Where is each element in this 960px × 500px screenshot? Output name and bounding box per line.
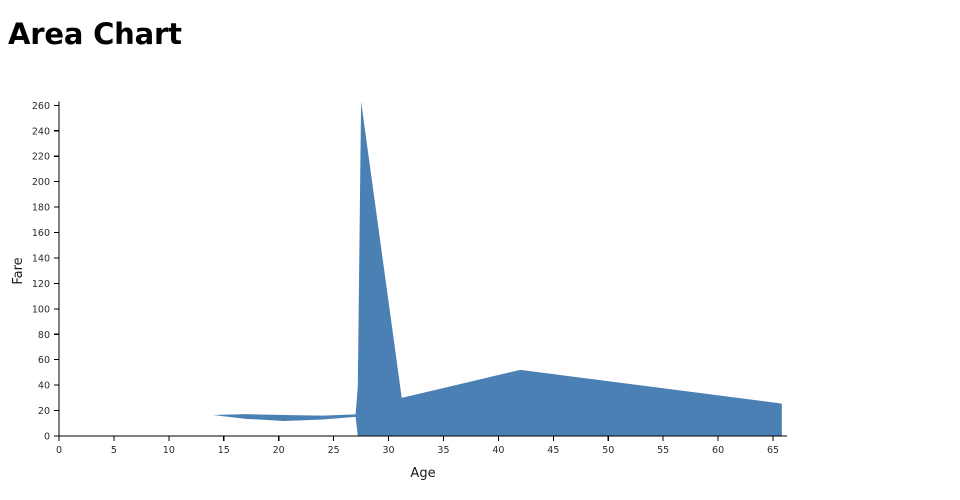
x-tick-label: 65 [767,445,779,456]
y-axis-ticks: 020406080100120140160180200220240260 [32,101,59,443]
y-tick-label: 180 [32,203,50,214]
x-axis-title: Age [410,466,435,481]
y-tick-label: 80 [38,330,50,341]
y-tick-label: 60 [38,355,50,366]
y-tick-label: 240 [32,126,50,137]
x-tick-label: 20 [273,445,285,456]
x-tick-label: 45 [547,445,559,456]
y-tick-label: 120 [32,279,50,290]
y-axis: 020406080100120140160180200220240260 [32,101,59,443]
x-tick-label: 50 [602,445,614,456]
y-tick-label: 260 [32,101,50,112]
area-series-layer [213,102,782,436]
y-tick-label: 40 [38,381,50,392]
plot-container: 020406080100120140160180200220240260 051… [0,0,960,500]
y-tick-label: 140 [32,253,50,264]
y-tick-label: 220 [32,152,50,163]
y-tick-label: 20 [38,406,50,417]
x-tick-label: 10 [163,445,175,456]
x-tick-label: 30 [383,445,395,456]
x-tick-label: 55 [657,445,669,456]
x-tick-label: 40 [492,445,504,456]
y-tick-label: 200 [32,177,50,188]
x-axis: 05101520253035404550556065 [56,436,787,456]
area-chart-svg: 020406080100120140160180200220240260 051… [0,0,960,500]
y-tick-label: 0 [44,432,50,443]
area-series-path[interactable] [213,102,782,436]
x-tick-label: 25 [328,445,340,456]
x-tick-label: 35 [437,445,449,456]
y-axis-title: Fare [11,257,26,284]
x-axis-ticks: 05101520253035404550556065 [56,436,779,456]
chart-page: Area Chart 02040608010012014016018020022… [0,0,960,500]
y-tick-label: 100 [32,304,50,315]
x-tick-label: 15 [218,445,230,456]
x-tick-label: 5 [111,445,117,456]
x-tick-label: 0 [56,445,62,456]
y-tick-label: 160 [32,228,50,239]
x-tick-label: 60 [712,445,724,456]
